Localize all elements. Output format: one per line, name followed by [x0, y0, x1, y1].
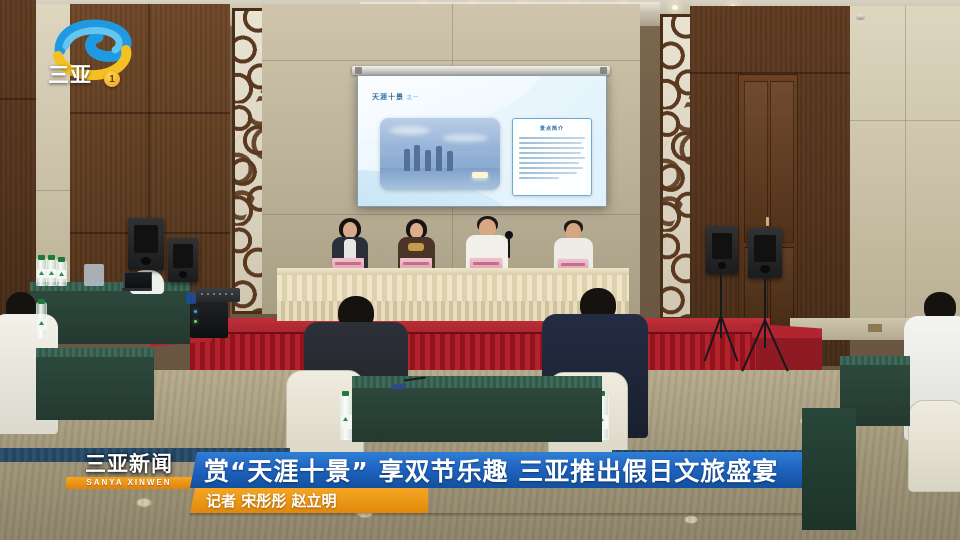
- laptop-base: [122, 288, 152, 291]
- security-camera-icon: [856, 14, 865, 20]
- stone-seam: [905, 6, 906, 336]
- panel-seam: [0, 98, 36, 100]
- stone-seam: [36, 190, 70, 191]
- panel-seam: [70, 112, 230, 114]
- projector-screen-casing: [352, 66, 610, 75]
- reporter-banner: 记者 宋彤彤 赵立明: [190, 488, 428, 513]
- audio-mixer: [196, 288, 240, 302]
- slide-photo: [380, 118, 500, 190]
- speaker-stand-pole: [764, 278, 766, 348]
- slide-text-card: 景点简介: [512, 118, 592, 196]
- bottle-cap: [342, 391, 349, 396]
- slide-card-heading: 景点简介: [540, 125, 564, 132]
- door-panel: [770, 81, 794, 243]
- status-led: [194, 310, 197, 313]
- table-felt-edge: [36, 348, 154, 357]
- blue-equipment-light: [186, 292, 196, 304]
- headline-text: 赏“天涯十景” 享双节乐趣 三亚推出假日文旅盛宴: [204, 452, 778, 488]
- door-handle-icon[interactable]: [766, 217, 769, 226]
- slide-title-suffix: 之一: [407, 95, 419, 101]
- equipment-cover-right: [802, 408, 856, 530]
- stone-seam: [262, 214, 640, 215]
- lower-third-shadow: [190, 513, 802, 517]
- photo-cloud: [390, 126, 430, 135]
- wall-outlet: [868, 324, 882, 332]
- casing-bracket: [355, 67, 362, 74]
- loudspeaker-left-small: [168, 238, 198, 282]
- loudspeaker-left: [128, 218, 164, 270]
- ceiling-downlight: [672, 5, 678, 10]
- projection-screen: 天涯十景之一 景点简介: [357, 75, 607, 207]
- slide-title-text: 天涯十景: [372, 94, 404, 101]
- stage-platform-skirt: [190, 334, 770, 370]
- table-felt-edge: [840, 356, 910, 365]
- photo-pillar: [447, 151, 453, 171]
- panelist-head: [410, 223, 423, 238]
- equipment-case: [84, 264, 104, 286]
- bottle-label: [341, 415, 352, 429]
- program-pinyin: SANYA XINWEN: [66, 477, 192, 489]
- program-name: 三亚新闻: [66, 452, 192, 476]
- speaker-stand-pole: [720, 274, 722, 338]
- channel-logo-text: 三亚: [48, 59, 92, 89]
- chair-right-edge: [908, 400, 960, 492]
- bottle-label: [47, 269, 56, 278]
- microphone-icon: [508, 236, 510, 258]
- door-panel: [744, 81, 768, 243]
- audience-table-left: [36, 348, 154, 420]
- bottle-label: [57, 270, 66, 279]
- bottle-cap: [58, 257, 65, 262]
- panelist-head: [343, 222, 357, 238]
- front-table-center: [352, 376, 602, 442]
- door-right-leaf-a[interactable]: [738, 74, 798, 346]
- program-logo: 三亚新闻 SANYA XINWEN: [66, 452, 192, 496]
- broadcast-frame: 天涯十景之一 景点简介: [0, 0, 960, 540]
- loudspeaker-right-rear: [706, 226, 738, 274]
- casing-bracket: [600, 67, 607, 74]
- photo-pillar: [414, 145, 420, 171]
- table-felt-edge: [352, 376, 602, 388]
- bottle-label: [37, 269, 46, 278]
- bottle-cap: [48, 255, 55, 260]
- stone-seam: [262, 60, 640, 61]
- photo-boat: [472, 172, 488, 178]
- photo-cloud: [442, 134, 488, 142]
- reporter-text: 记者 宋彤彤 赵立明: [206, 490, 336, 511]
- bottle-cap: [38, 255, 45, 260]
- photo-pillar: [436, 146, 442, 171]
- water-bottle: [36, 302, 47, 338]
- channel-number-badge: 1: [104, 71, 120, 87]
- bottle-label: [37, 319, 46, 330]
- water-bottle: [56, 260, 67, 286]
- slide-card-body-lines: [519, 137, 585, 182]
- headline-banner: 赏“天涯十景” 享双节乐趣 三亚推出假日文旅盛宴: [190, 452, 802, 488]
- head-table-top: [277, 268, 629, 275]
- channel-logo: 三亚 1: [46, 16, 156, 90]
- bottle-cap: [38, 299, 45, 304]
- slide-title: 天涯十景之一: [372, 92, 419, 102]
- photo-pillar: [425, 150, 431, 171]
- status-led: [194, 320, 197, 323]
- photo-pillar: [404, 149, 410, 171]
- panelist-accessory: [408, 243, 424, 251]
- loudspeaker-right: [748, 228, 782, 278]
